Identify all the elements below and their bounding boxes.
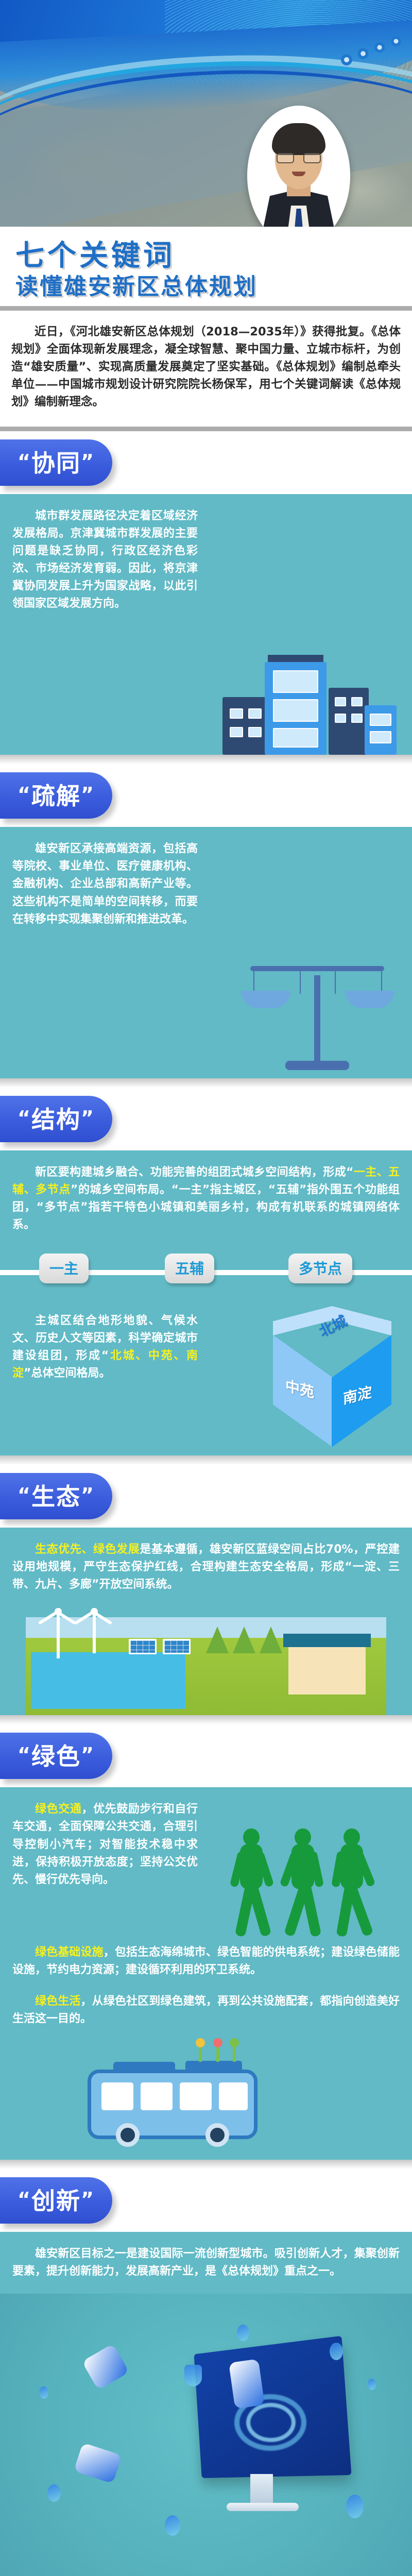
paragraph-run: ”的城乡空间布局。“一主”指主城区，“五辅”指外围五个功能组团，“多节点”指若干… [12,1183,400,1231]
quote-close-icon: ” [81,1107,95,1129]
quote-close-icon: ” [81,783,95,806]
paragraph-run: 新区要构建城乡融合、功能完善的组团式城乡空间结构，形成“ [35,1166,354,1179]
flower-icon [233,2044,236,2062]
tree-icon [206,1626,229,1653]
section-body-chuangxin: 雄安新区目标之一是建设国际一流创新型城市。吸引创新人才，集聚创新要素，提升创新能… [0,2232,412,2576]
chip-duojiedian[interactable]: 多节点 [288,1253,352,1283]
quote-close-icon: ” [81,450,95,473]
section-tag-xietong[interactable]: “协同” [0,439,112,486]
section-body-jiegou: 新区要构建城乡融合、功能完善的组团式城乡空间结构，形成“一主、五辅、多节点”的城… [0,1150,412,1455]
section-shadow [0,1715,412,1724]
section-paragraph: 绿色交通，优先鼓励步行和自行车交通，全面保障公共交通，合理引导控制小汽车；对智能… [12,1801,198,1888]
section-paragraph: 城市群发展路径决定着区域经济发展格局。京津冀城市群发展的主要问题是缺乏协同，行政… [12,507,198,613]
astronaut-figure-icon [82,2344,130,2390]
quote-close-icon: ” [81,1484,95,1506]
paragraph-run-highlight: 绿色基础设施 [35,1946,104,1959]
tree-icon [233,1626,255,1653]
quote-open-icon: “ [18,450,31,473]
bus-illustration [0,2041,412,2160]
section-tag-jiegou[interactable]: “结构” [0,1096,112,1142]
section-paragraph: 雄安新区承接高端资源，包括高等院校、事业单位、医疗健康机构、金融机构、企业总部和… [12,840,198,928]
section-paragraph: 雄安新区目标之一是建设国际一流创新型城市。吸引创新人才，集聚创新要素，提升创新能… [12,2245,400,2280]
section-tag-chuangxin[interactable]: “创新” [0,2177,112,2224]
section-tag-label: 协同 [31,449,81,477]
section-paragraph: 生态优先、绿色发展是基本遵循，雄安新区蓝绿空间占比70%，严控建设用地规模，严守… [12,1541,400,1594]
orb-icon [165,2515,180,2536]
quote-open-icon: “ [18,783,31,806]
quote-open-icon: “ [18,1484,31,1506]
swirl-glow-inner-icon [246,2403,296,2442]
section-tag-shengtai[interactable]: “生态” [0,1473,112,1519]
structure-chip-row: 一主 五辅 多节点 [0,1239,412,1301]
section-paragraph: 新区要构建城乡融合、功能完善的组团式城乡空间结构，形成“一主、五辅、多节点”的城… [12,1164,400,1234]
paragraph-run: ”总体空间格局。 [24,1367,110,1380]
orb-icon [346,2495,364,2518]
infographic-page: 七个关键词 读懂雄安新区总体规划 近日，《河北雄安新区总体规划（2018—203… [0,0,412,2576]
solar-panel-icon [129,1639,157,1654]
quote-open-icon: “ [18,1107,31,1129]
section-tag-wrap-shengtai: “生态” [0,1465,412,1528]
walker-figure [232,1828,273,1937]
paragraph-run-highlight: 绿色生活 [35,1995,81,2008]
section-tag-label: 绿色 [31,1742,81,1770]
intro-paragraph: 近日，《河北雄安新区总体规划（2018—2035年）》获得批复。《总体规划》全面… [0,311,412,427]
house-roof-icon [283,1634,371,1647]
section-tag-wrap-shujie: “疏解” [0,764,412,827]
quote-open-icon: “ [18,1743,31,1766]
section-tag-wrap-lvse: “绿色” [0,1724,412,1787]
section-body-shengtai: 生态优先、绿色发展是基本遵循，雄安新区蓝绿空间占比70%，严控建设用地规模，严守… [0,1528,412,1715]
section-body-shujie: 雄安新区承接高端资源，包括高等院校、事业单位、医疗健康机构、金融机构、企业总部和… [0,827,412,1078]
city-buildings-illustration [217,636,403,755]
solar-panel-icon [163,1639,191,1654]
paragraph-run-highlight: 绿色交通 [35,1803,81,1816]
section-shadow [0,755,412,764]
balance-scales-illustration [238,943,398,1072]
hero-dot-chain-icon [341,54,402,65]
orb-icon [330,2343,343,2360]
section-tag-wrap-xietong: “协同” [0,431,412,494]
bus-icon [88,2070,257,2139]
title-sub: 读懂雄安新区总体规划 [15,273,412,301]
orb-icon [237,2325,249,2341]
flower-icon [199,2044,202,2062]
tree-icon [260,1626,282,1653]
section-body-xietong: 城市群发展路径决定着区域经济发展格局。京津冀城市群发展的主要问题是缺乏协同，行政… [0,494,412,755]
walking-people-illustration [227,1818,397,1937]
eco-illustration [0,1607,412,1715]
section-shadow [0,2160,412,2169]
section-paragraph: 绿色基础设施，包括生态海绵城市、绿色智能的供电系统；建设绿色储能设施，节约电力资… [12,1944,400,1979]
quote-close-icon: ” [81,2188,95,2211]
orb-icon [47,2484,61,2502]
section-tag-label: 结构 [31,1106,81,1133]
section-tag-wrap-chuangxin: “创新” [0,2169,412,2232]
divider-bottom [0,427,412,431]
innovation-illustration [0,2294,412,2576]
section-tag-wrap-jiegou: “结构” [0,1088,412,1150]
wind-turbine-icon [57,1612,60,1658]
section-tag-lvse[interactable]: “绿色” [0,1733,112,1779]
divider-top [0,306,412,311]
chip-wufu[interactable]: 五辅 [165,1253,214,1283]
section-paragraph: 绿色生活，从绿色社区到绿色建筑，再到公共设施配套，都指向创造美好生活这一目的。 [12,1993,400,2028]
quote-open-icon: “ [18,2188,31,2211]
orb-icon [39,2386,48,2399]
cube-diagram: 北城 中苑 南淀 [273,1306,391,1455]
section-body-lvse: 绿色交通，优先鼓励步行和自行车交通，全面保障公共交通，合理引导控制小汽车；对智能… [0,1787,412,2159]
hero-banner [0,0,412,227]
chip-yizhu[interactable]: 一主 [39,1253,89,1283]
monitor-stand [250,2474,273,2506]
section-tag-label: 疏解 [31,782,81,810]
title-main: 七个关键词 [15,240,412,273]
wind-turbine-icon [93,1612,96,1653]
orb-icon [368,2379,376,2390]
shield-icon [184,2365,202,2386]
walker-figure [332,1828,373,1937]
monitor-base [227,2503,299,2511]
section-tag-shujie[interactable]: “疏解” [0,772,112,819]
section-shadow [0,1455,412,1465]
glasses-icon [277,153,321,164]
walker-figure [283,1828,324,1937]
flower-icon [216,2044,219,2062]
paragraph-run-highlight: 生态优先、绿色发展 [35,1543,140,1556]
section-tag-label: 生态 [31,1483,81,1511]
eco-water [31,1652,185,1709]
section-shadow [0,1078,412,1088]
astronaut-figure-icon [74,2443,122,2484]
quote-close-icon: ” [81,1743,95,1766]
house-icon [288,1647,366,1694]
section-tag-label: 创新 [31,2187,81,2215]
astronaut-figure-icon [229,2359,265,2409]
page-title: 七个关键词 读懂雄安新区总体规划 [0,227,412,306]
section-paragraph: 主城区结合地形地貌、气候水文、历史人文等因素，科学确定城市建设组团，形成“北城、… [12,1312,198,1382]
